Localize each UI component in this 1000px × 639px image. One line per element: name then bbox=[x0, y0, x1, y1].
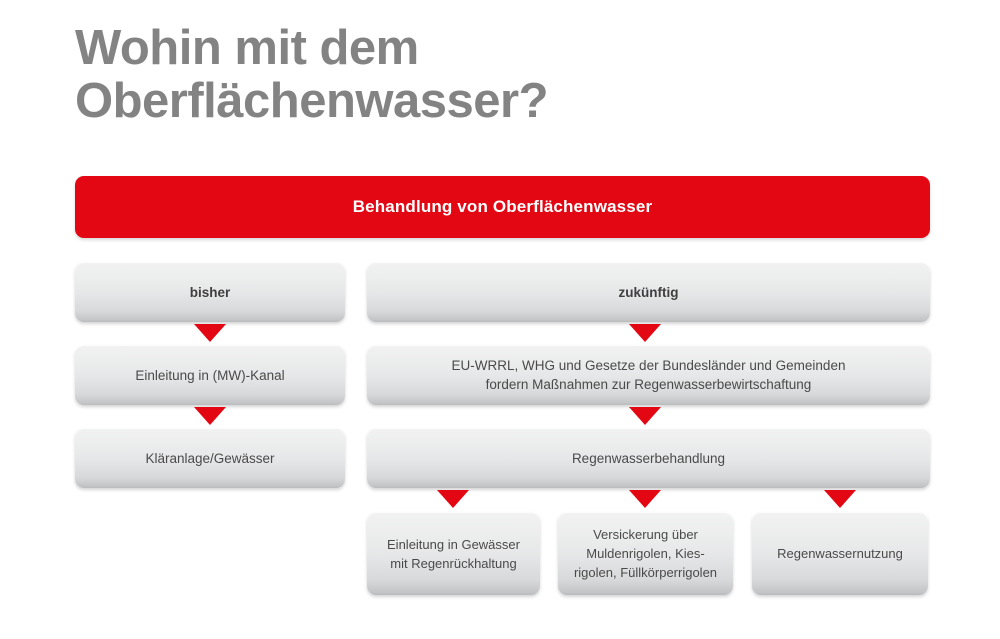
box-right-step-1[interactable]: EU-WRRL, WHG und Gesetze der Bundeslände… bbox=[367, 345, 930, 405]
box-left-heading-label: bisher bbox=[190, 283, 231, 302]
banner-behandlung: Behandlung von Oberflächenwasser bbox=[75, 176, 930, 238]
page-title: Wohin mit dem Oberflächenwasser? bbox=[75, 22, 895, 128]
arrow-down-icon-outcome-2 bbox=[629, 490, 661, 508]
box-left-step-1[interactable]: Einleitung in (MW)-Kanal bbox=[75, 345, 345, 405]
box-outcome-1-label: Einleitung in Gewässer mit Regenrückhalt… bbox=[387, 535, 520, 573]
box-right-heading-label: zukünftig bbox=[619, 283, 679, 302]
arrow-down-icon-outcome-1 bbox=[437, 490, 469, 508]
box-right-step-2-label: Regenwasserbehandlung bbox=[572, 449, 725, 468]
box-outcome-2-label: Versickerung über Muldenrigolen, Kies- r… bbox=[574, 525, 717, 582]
box-right-step-1-label: EU-WRRL, WHG und Gesetze der Bundeslände… bbox=[452, 356, 846, 394]
box-outcome-3[interactable]: Regenwassernutzung bbox=[752, 512, 928, 595]
box-right-heading[interactable]: zukünftig bbox=[367, 262, 930, 322]
arrow-down-icon-right-1 bbox=[629, 324, 661, 342]
box-left-step-2[interactable]: Kläranlage/Gewässer bbox=[75, 428, 345, 488]
box-right-step-2[interactable]: Regenwasserbehandlung bbox=[367, 428, 930, 488]
arrow-down-icon-left-1 bbox=[194, 324, 226, 342]
arrow-down-icon-right-2 bbox=[629, 407, 661, 425]
banner-label: Behandlung von Oberflächenwasser bbox=[353, 197, 653, 217]
box-outcome-2[interactable]: Versickerung über Muldenrigolen, Kies- r… bbox=[558, 512, 733, 595]
box-left-step-1-label: Einleitung in (MW)-Kanal bbox=[135, 366, 284, 385]
arrow-down-icon-outcome-3 bbox=[824, 490, 856, 508]
box-left-step-2-label: Kläranlage/Gewässer bbox=[145, 449, 274, 468]
box-left-heading[interactable]: bisher bbox=[75, 262, 345, 322]
diagram-page: Wohin mit dem Oberflächenwasser? Behandl… bbox=[0, 0, 1000, 639]
box-outcome-3-label: Regenwassernutzung bbox=[777, 544, 903, 563]
arrow-down-icon-left-2 bbox=[194, 407, 226, 425]
box-outcome-1[interactable]: Einleitung in Gewässer mit Regenrückhalt… bbox=[367, 512, 540, 595]
